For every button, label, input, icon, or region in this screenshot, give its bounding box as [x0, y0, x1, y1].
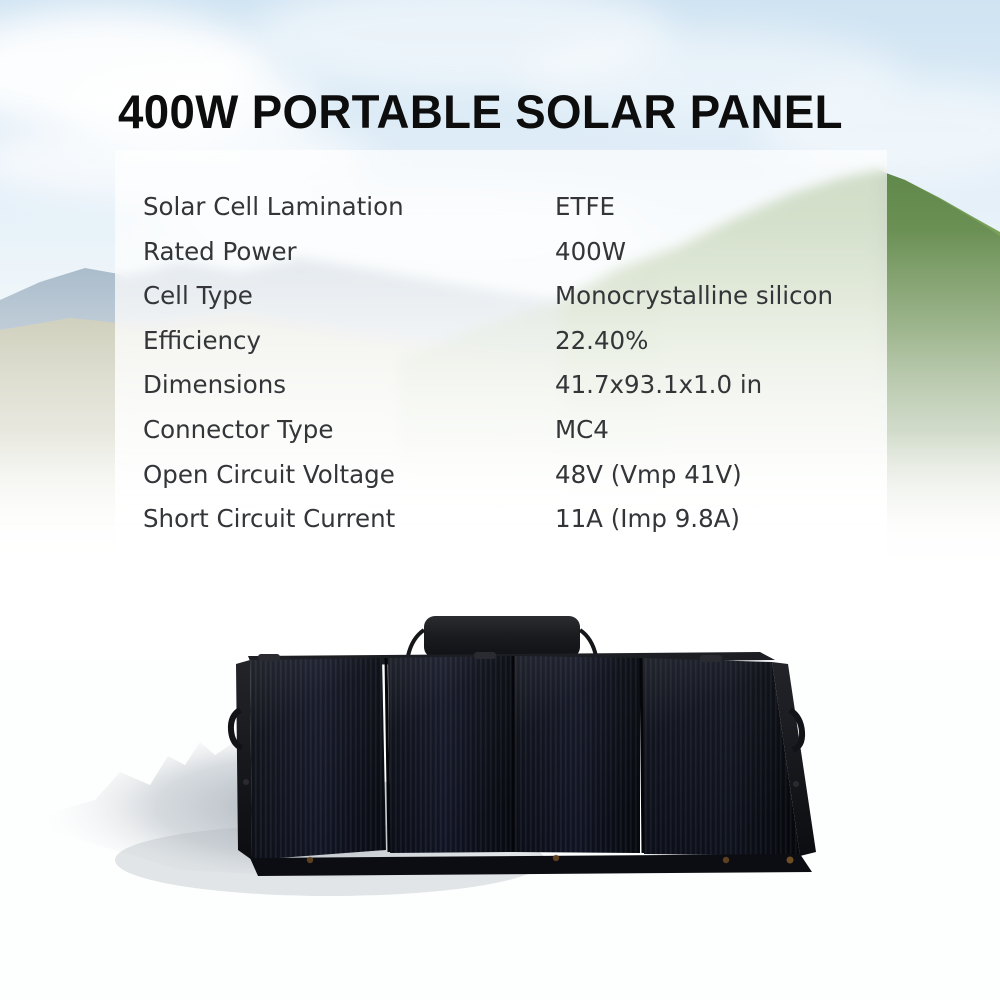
- spec-value: ETFE: [555, 192, 615, 222]
- spec-row: Efficiency 22.40%: [143, 326, 903, 371]
- panel-segment-1-sheen: [250, 658, 386, 860]
- spec-row: Dimensions 41.7x93.1x1.0 in: [143, 370, 903, 415]
- top-clip-left: [258, 654, 280, 661]
- solar-panel-product-image: [0, 560, 1000, 1000]
- connector-grommet: [553, 855, 559, 861]
- spec-row: Connector Type MC4: [143, 415, 903, 460]
- handle-strap-left: [408, 630, 424, 656]
- carry-handle: [424, 616, 580, 658]
- spec-label: Solar Cell Lamination: [143, 192, 404, 222]
- spec-value: 41.7x93.1x1.0 in: [555, 370, 762, 400]
- right-rivet: [793, 781, 799, 787]
- panel-segment-2-sheen: [388, 656, 512, 853]
- spec-row: Rated Power 400W: [143, 237, 903, 282]
- spec-label: Cell Type: [143, 281, 253, 311]
- spec-row: Cell Type Monocrystalline silicon: [143, 281, 903, 326]
- panel-segment-3-sheen: [514, 656, 640, 853]
- fold-seam-3: [641, 658, 643, 853]
- top-clip-right: [700, 655, 722, 662]
- spec-value: 400W: [555, 237, 626, 267]
- spec-label: Dimensions: [143, 370, 286, 400]
- spec-value: Monocrystalline silicon: [555, 281, 833, 311]
- spec-table: Solar Cell Lamination ETFE Rated Power 4…: [143, 192, 903, 549]
- left-rivet: [243, 779, 249, 785]
- spec-label: Short Circuit Current: [143, 504, 395, 534]
- left-edge-bevel: [236, 660, 252, 860]
- spec-row: Solar Cell Lamination ETFE: [143, 192, 903, 237]
- connector-grommet: [787, 857, 794, 864]
- handle-strap-right: [580, 630, 596, 656]
- product-infographic: 400W PORTABLE SOLAR PANEL Solar Cell Lam…: [0, 0, 1000, 1000]
- spec-value: 22.40%: [555, 326, 648, 356]
- connector-grommet: [307, 857, 313, 863]
- spec-row: Short Circuit Current 11A (Imp 9.8A): [143, 504, 903, 549]
- spec-label: Connector Type: [143, 415, 333, 445]
- connector-grommet: [723, 857, 729, 863]
- spec-value: 48V (Vmp 41V): [555, 460, 742, 490]
- spec-value: MC4: [555, 415, 609, 445]
- spec-row: Open Circuit Voltage 48V (Vmp 41V): [143, 460, 903, 505]
- top-clip-mid: [474, 652, 496, 659]
- page-title: 400W PORTABLE SOLAR PANEL: [118, 84, 843, 139]
- spec-label: Open Circuit Voltage: [143, 460, 395, 490]
- spec-label: Efficiency: [143, 326, 261, 356]
- spec-value: 11A (Imp 9.8A): [555, 504, 740, 534]
- spec-label: Rated Power: [143, 237, 297, 267]
